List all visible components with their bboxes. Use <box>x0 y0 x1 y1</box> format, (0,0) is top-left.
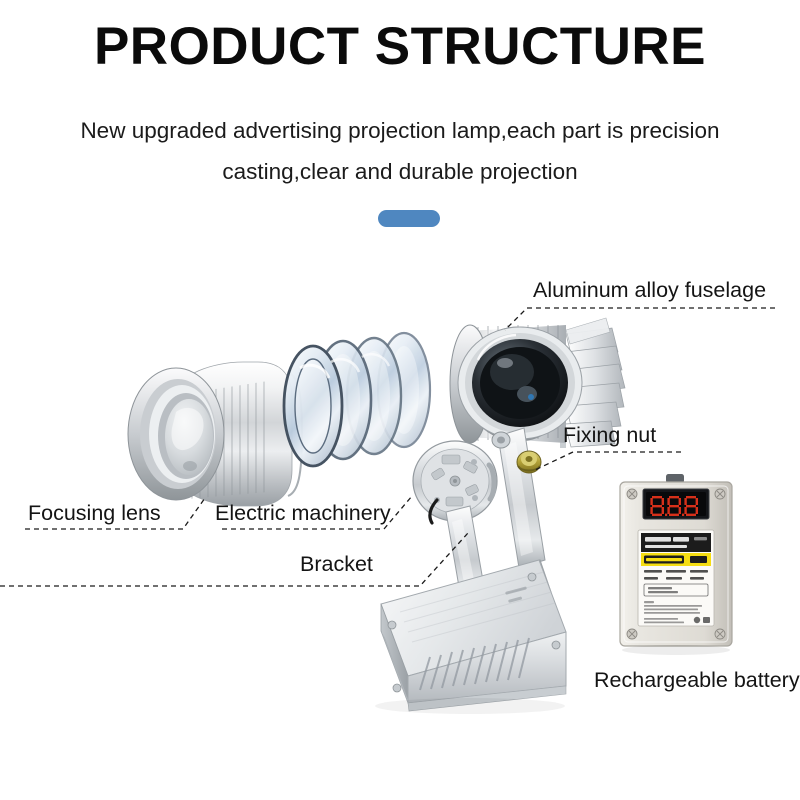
callout-label-aluminum-alloy-fuselage: Aluminum alloy fuselage <box>533 280 766 302</box>
callout-label-focusing-lens: Focusing lens <box>28 503 161 525</box>
rechargeable-battery-part <box>620 474 732 655</box>
leader-fixing-nut <box>535 452 681 470</box>
callout-label-bracket: Bracket <box>300 554 373 576</box>
focusing-lens-part <box>128 360 302 510</box>
infographic-canvas: PRODUCT STRUCTURE New upgraded advertisi… <box>0 0 800 800</box>
fixing-nut-part <box>517 451 541 473</box>
glass-lens-rings <box>284 333 430 466</box>
base-box-part <box>381 560 566 711</box>
callout-label-fixing-nut: Fixing nut <box>563 425 656 447</box>
callout-label-rechargeable-battery: Rechargeable battery <box>594 670 800 692</box>
callout-label-electric-machinery: Electric machinery <box>215 503 391 525</box>
leader-bracket <box>0 533 468 586</box>
